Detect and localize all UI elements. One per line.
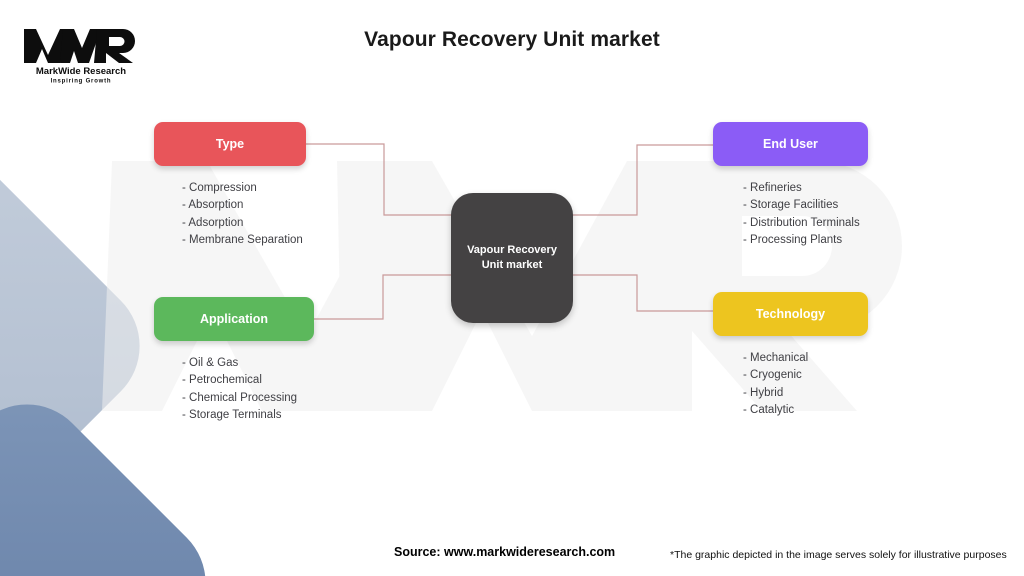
connector-type	[306, 144, 452, 215]
list-item: - Processing Plants	[743, 232, 868, 249]
diagram-canvas: MarkWide Research Inspiring Growth Vapou…	[0, 0, 1024, 576]
center-node[interactable]: Vapour Recovery Unit market	[451, 193, 573, 323]
connector-application	[314, 275, 452, 319]
category-type-list: - Compression - Absorption - Adsorption …	[182, 180, 306, 250]
list-item: - Catalytic	[743, 402, 868, 419]
list-item: - Storage Terminals	[182, 407, 314, 424]
category-end-user-label: End User	[763, 137, 818, 151]
category-application-header[interactable]: Application	[154, 297, 314, 341]
list-item: - Absorption	[182, 197, 306, 214]
list-item: - Membrane Separation	[182, 232, 306, 249]
list-item: - Mechanical	[743, 350, 868, 367]
category-technology-header[interactable]: Technology	[713, 292, 868, 336]
list-item: - Adsorption	[182, 215, 306, 232]
connector-end-user	[572, 145, 713, 215]
category-end-user: End User - Refineries - Storage Faciliti…	[713, 122, 868, 250]
category-application-list: - Oil & Gas - Petrochemical - Chemical P…	[182, 355, 314, 425]
center-node-label: Vapour Recovery Unit market	[467, 243, 557, 273]
list-item: - Compression	[182, 180, 306, 197]
category-technology: Technology - Mechanical - Cryogenic - Hy…	[713, 292, 868, 420]
decorative-shape-light	[0, 134, 166, 558]
category-type: Type - Compression - Absorption - Adsorp…	[154, 122, 306, 250]
page-title: Vapour Recovery Unit market	[0, 28, 1024, 52]
category-application-label: Application	[200, 312, 268, 326]
connector-technology	[572, 275, 713, 311]
category-end-user-header[interactable]: End User	[713, 122, 868, 166]
category-type-label: Type	[216, 137, 244, 151]
category-application: Application - Oil & Gas - Petrochemical …	[154, 297, 314, 425]
list-item: - Storage Facilities	[743, 197, 868, 214]
category-technology-label: Technology	[756, 307, 825, 321]
category-end-user-list: - Refineries - Storage Facilities - Dist…	[743, 180, 868, 250]
list-item: - Oil & Gas	[182, 355, 314, 372]
list-item: - Refineries	[743, 180, 868, 197]
logo-name: MarkWide Research	[36, 66, 126, 77]
footer-source: Source: www.markwideresearch.com	[394, 545, 615, 559]
list-item: - Chemical Processing	[182, 390, 314, 407]
category-type-header[interactable]: Type	[154, 122, 306, 166]
list-item: - Petrochemical	[182, 372, 314, 389]
list-item: - Cryogenic	[743, 367, 868, 384]
category-technology-list: - Mechanical - Cryogenic - Hybrid - Cata…	[743, 350, 868, 420]
list-item: - Distribution Terminals	[743, 215, 868, 232]
footer-disclaimer: *The graphic depicted in the image serve…	[670, 549, 1007, 561]
list-item: - Hybrid	[743, 385, 868, 402]
logo-tagline: Inspiring Growth	[51, 79, 112, 85]
